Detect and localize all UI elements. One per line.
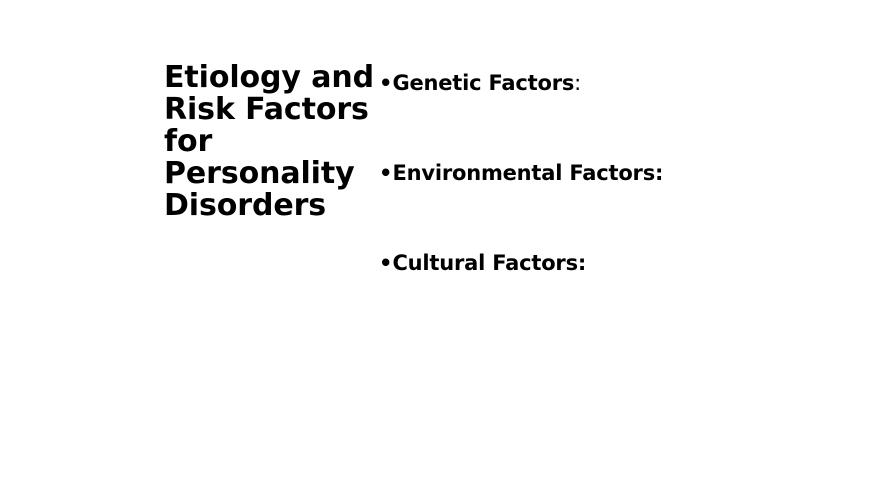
bullet-label: Cultural Factors xyxy=(392,251,577,275)
bullet-line: •Cultural Factors: xyxy=(379,250,849,276)
list-item[interactable]: •Cultural Factors: xyxy=(379,250,849,276)
bullet-punctuation: : xyxy=(578,251,586,275)
bullet-punctuation: : xyxy=(655,161,663,185)
bullet-point-icon: • xyxy=(379,251,392,275)
bullet-punctuation: : xyxy=(574,71,581,95)
slide-canvas: Etiology and Risk Factors for Personalit… xyxy=(0,0,880,495)
bullet-point-icon: • xyxy=(379,71,392,95)
bullet-point-icon: • xyxy=(379,161,392,185)
content-placeholder[interactable]: •Genetic Factors: •Environmental Factors… xyxy=(379,70,849,276)
bullet-label: Environmental Factors xyxy=(392,161,655,185)
list-item[interactable]: •Genetic Factors: xyxy=(379,70,849,160)
bullet-line: •Genetic Factors: xyxy=(379,70,849,96)
bullet-label: Genetic Factors xyxy=(392,71,574,95)
slide-title: Etiology and Risk Factors for Personalit… xyxy=(164,62,376,222)
bullet-line: •Environmental Factors: xyxy=(379,160,849,186)
list-item[interactable]: •Environmental Factors: xyxy=(379,160,849,250)
title-placeholder[interactable]: Etiology and Risk Factors for Personalit… xyxy=(164,62,376,222)
